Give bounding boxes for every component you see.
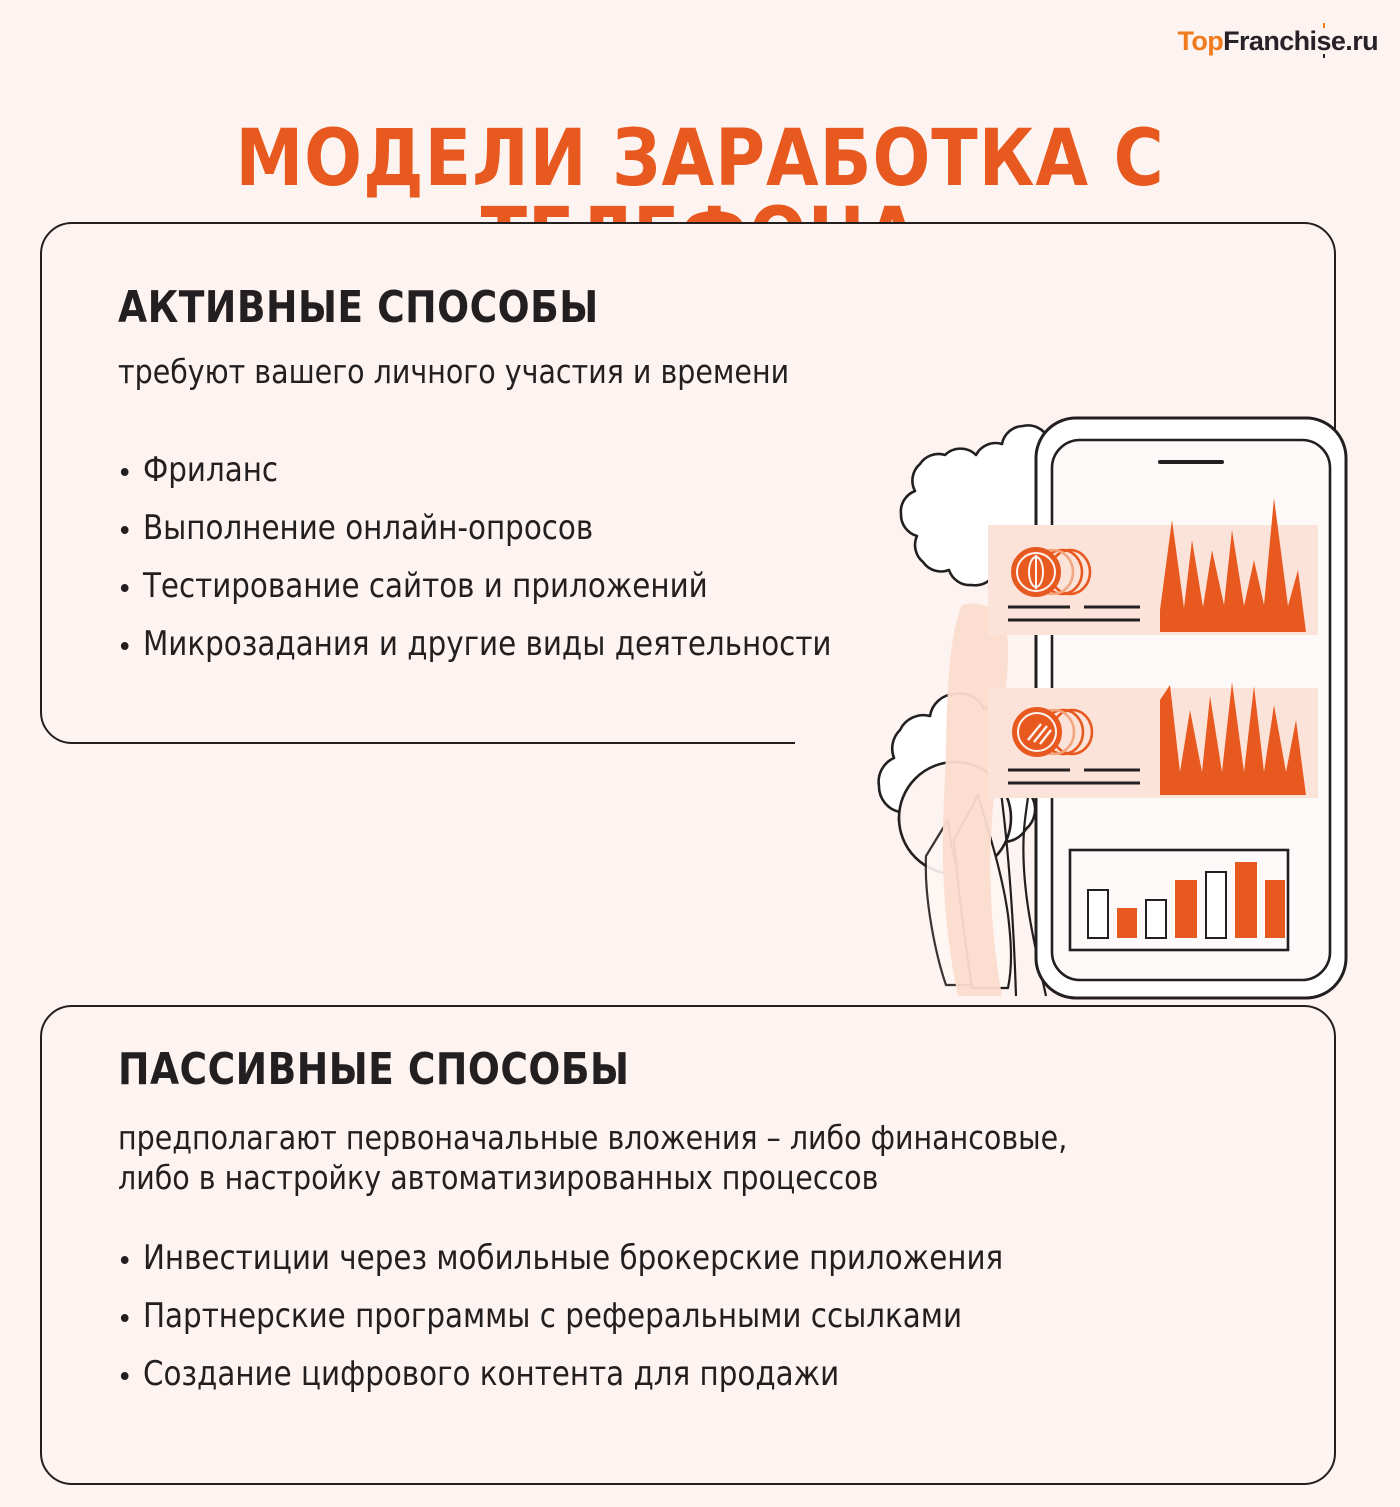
card-passive-subtitle-line2: либо в настройку автоматизированных проц… [118, 1158, 878, 1198]
logo-tld-text: .ru [1345, 26, 1378, 56]
phone-speaker [1158, 460, 1224, 464]
phone-illustration [740, 400, 1360, 1020]
list-item: Микрозадания и другие виды деятельности [118, 624, 832, 664]
list-item: Тестирование сайтов и приложений [118, 566, 832, 606]
bar [1235, 862, 1257, 938]
list-item: Создание цифрового контента для продажи [118, 1354, 1003, 1394]
logo-dollar-s: s [1316, 26, 1330, 56]
bar [1146, 900, 1166, 938]
bar [1206, 872, 1226, 938]
bar [1265, 880, 1285, 938]
bar [1088, 890, 1108, 938]
list-item: Инвестиции через мобильные брокерские пр… [118, 1238, 1003, 1278]
card-active-bullet-list: Фриланс Выполнение онлайн-опросов Тестир… [118, 450, 832, 682]
card-passive-heading: ПАССИВНЫЕ СПОСОБЫ [118, 1048, 629, 1092]
card-passive-bullet-list: Инвестиции через мобильные брокерские пр… [118, 1238, 1003, 1412]
chart-panel-bottom [988, 682, 1318, 798]
logo-e-text: e [1331, 26, 1345, 56]
list-item: Выполнение онлайн-опросов [118, 508, 832, 548]
bar [1175, 880, 1197, 938]
list-item: Партнерские программы с реферальными ссы… [118, 1296, 1003, 1336]
logo-franchi-text: Franchi [1223, 26, 1316, 56]
infographic-page: TopFranchise.ru МОДЕЛИ ЗАРАБОТКА С ТЕЛЕФ… [0, 0, 1400, 1507]
card-passive-subtitle-line1: предполагают первоначальные вложения – л… [118, 1118, 1067, 1158]
logo-top-text: Top [1177, 26, 1223, 56]
card-active-heading: АКТИВНЫЕ СПОСОБЫ [118, 286, 599, 330]
bar [1117, 908, 1137, 938]
card-active-subtitle: требуют вашего личного участия и времени [118, 352, 789, 392]
brand-logo[interactable]: TopFranchise.ru [1177, 26, 1378, 57]
list-item: Фриланс [118, 450, 832, 490]
